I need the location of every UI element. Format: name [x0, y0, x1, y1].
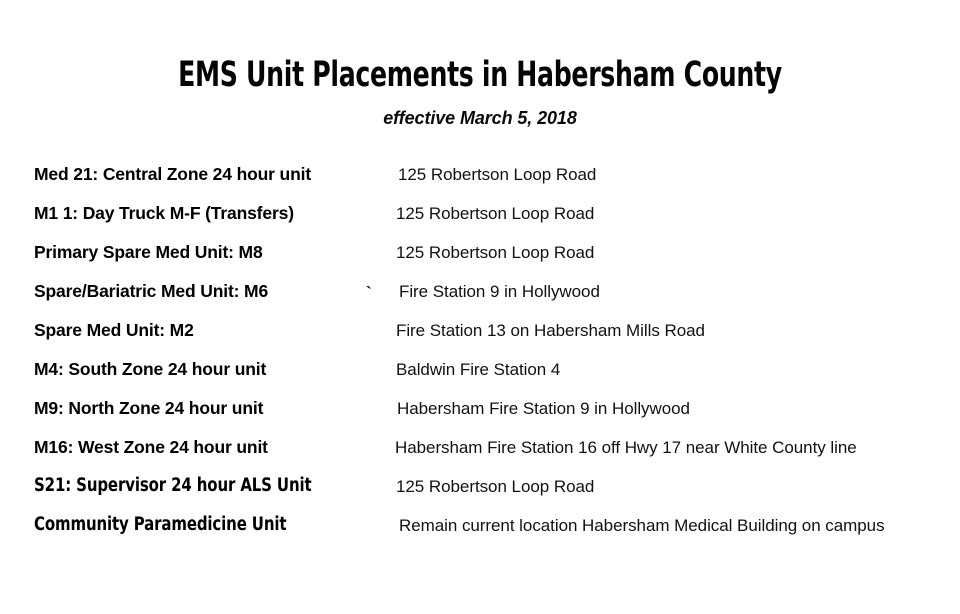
unit-location: 125 Robertson Loop Road: [396, 476, 594, 498]
unit-label: Primary Spare Med Unit: M8: [34, 241, 263, 263]
placement-row: M1 1: Day Truck M-F (Transfers)125 Rober…: [0, 202, 960, 241]
unit-location: Remain current location Habersham Medica…: [399, 515, 885, 537]
unit-label: M16: West Zone 24 hour unit: [34, 436, 268, 458]
placement-row: Community Paramedicine UnitRemain curren…: [0, 514, 960, 553]
unit-label: Med 21: Central Zone 24 hour unit: [34, 163, 311, 185]
unit-label: M9: North Zone 24 hour unit: [34, 397, 263, 419]
unit-location: 125 Robertson Loop Road: [396, 242, 594, 264]
page-subtitle: effective March 5, 2018: [0, 106, 960, 130]
placement-row: Spare Med Unit: M2Fire Station 13 on Hab…: [0, 319, 960, 358]
unit-location: 125 Robertson Loop Road: [396, 203, 594, 225]
placement-row: M4: South Zone 24 hour unitBaldwin Fire …: [0, 358, 960, 397]
placement-row: S21: Supervisor 24 hour ALS Unit125 Robe…: [0, 475, 960, 514]
unit-label: Community Paramedicine Unit: [34, 514, 286, 536]
unit-location: Habersham Fire Station 16 off Hwy 17 nea…: [395, 437, 857, 459]
unit-label: Spare/Bariatric Med Unit: M6: [34, 280, 268, 302]
unit-location: Fire Station 13 on Habersham Mills Road: [396, 320, 705, 342]
unit-location: 125 Robertson Loop Road: [398, 164, 596, 186]
placement-row: Spare/Bariatric Med Unit: M6`Fire Statio…: [0, 280, 960, 319]
placement-row: Primary Spare Med Unit: M8125 Robertson …: [0, 241, 960, 280]
unit-location: Fire Station 9 in Hollywood: [399, 281, 600, 303]
document-canvas: EMS Unit Placements in Habersham County …: [0, 0, 960, 614]
placement-row: M9: North Zone 24 hour unitHabersham Fir…: [0, 397, 960, 436]
unit-label: Spare Med Unit: M2: [34, 319, 194, 341]
placement-row: Med 21: Central Zone 24 hour unit125 Rob…: [0, 163, 960, 202]
page-title: EMS Unit Placements in Habersham County: [96, 56, 864, 94]
unit-label: S21: Supervisor 24 hour ALS Unit: [34, 475, 311, 497]
stray-grave-accent-mark: `: [366, 282, 372, 304]
placement-list: Med 21: Central Zone 24 hour unit125 Rob…: [0, 163, 960, 553]
unit-location: Baldwin Fire Station 4: [396, 359, 560, 381]
unit-label: M4: South Zone 24 hour unit: [34, 358, 266, 380]
unit-location: Habersham Fire Station 9 in Hollywood: [397, 398, 690, 420]
unit-label: M1 1: Day Truck M-F (Transfers): [34, 202, 294, 224]
placement-row: M16: West Zone 24 hour unitHabersham Fir…: [0, 436, 960, 475]
